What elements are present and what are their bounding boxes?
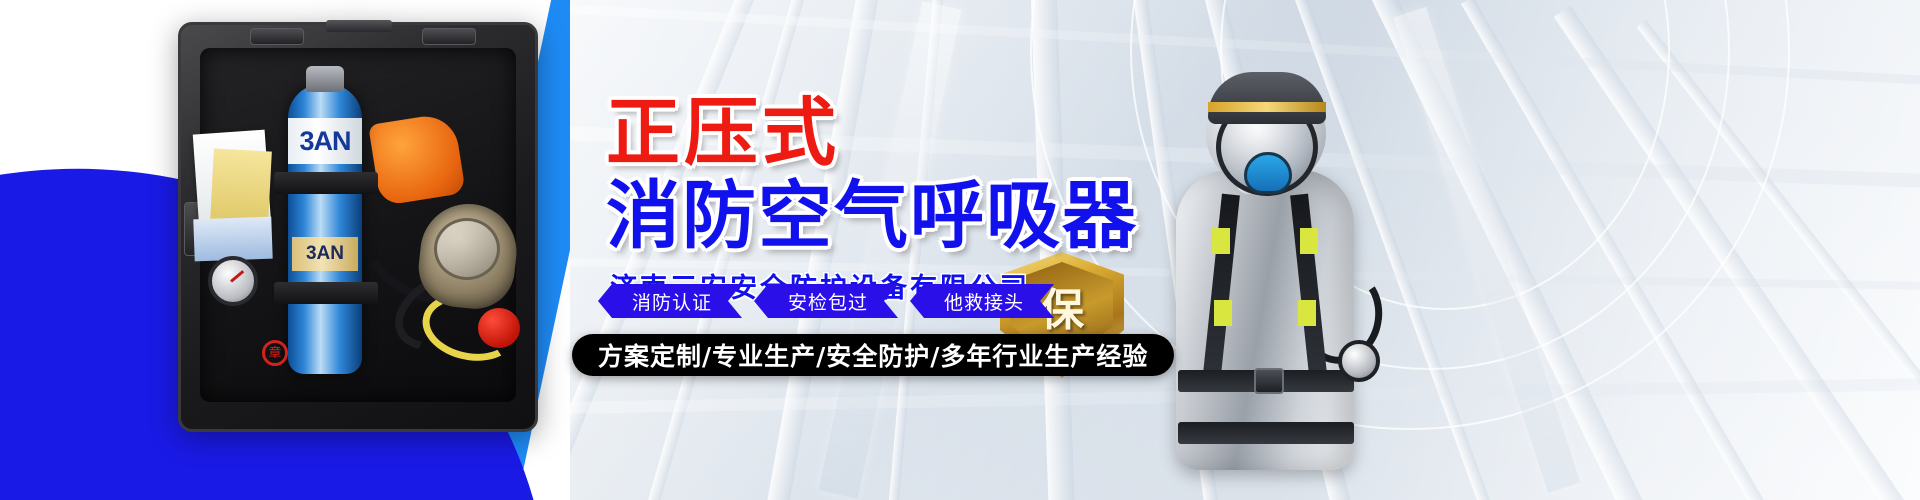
- promo-banner: 3AN 3AN 章: [0, 0, 1920, 500]
- cylinder-strap: [274, 282, 378, 304]
- cylinder-valve: [306, 66, 344, 92]
- red-stamp-seal: 章: [262, 340, 288, 366]
- badge-safety-inspection[interactable]: 安检包过: [754, 284, 898, 318]
- document-sheet: [210, 149, 272, 224]
- headline-text-block: 正压式 消防空气呼吸器 济南三安安全防护设备有限公司: [606, 92, 1246, 305]
- strap-buckle: [1254, 368, 1284, 394]
- pressure-gauge-icon: [1338, 340, 1380, 382]
- reflective-patch: [1298, 300, 1316, 326]
- bottom-tagline-bar: 方案定制/专业生产/安全防护/多年行业生产经验: [572, 334, 1174, 376]
- waist-strap: [1178, 422, 1354, 444]
- cylinder-secondary-label: 3AN: [292, 237, 358, 271]
- document-sheet: [193, 217, 272, 262]
- cylinder-strap: [274, 172, 378, 194]
- headline-red: 正压式: [606, 92, 1246, 174]
- case-latch: [422, 28, 476, 45]
- reflective-patch: [1300, 228, 1318, 254]
- badge-rescue-connector[interactable]: 他救接头: [910, 284, 1054, 318]
- pressure-gauge-icon: [208, 256, 258, 306]
- cylinder-brand-label: 3AN: [288, 118, 362, 164]
- red-regulator-knob: [478, 308, 520, 348]
- case-latch: [250, 28, 304, 45]
- carry-case-handle: [326, 20, 392, 32]
- feature-badge-row: 消防认证 安检包过 他救接头: [598, 284, 1054, 318]
- headline-blue: 消防空气呼吸器: [606, 174, 1246, 258]
- badge-fire-certification[interactable]: 消防认证: [598, 284, 742, 318]
- product-photo-scba-case: 3AN 3AN 章: [178, 22, 538, 432]
- mask-regulator-cup: [1244, 152, 1292, 194]
- mask-lens: [434, 218, 500, 280]
